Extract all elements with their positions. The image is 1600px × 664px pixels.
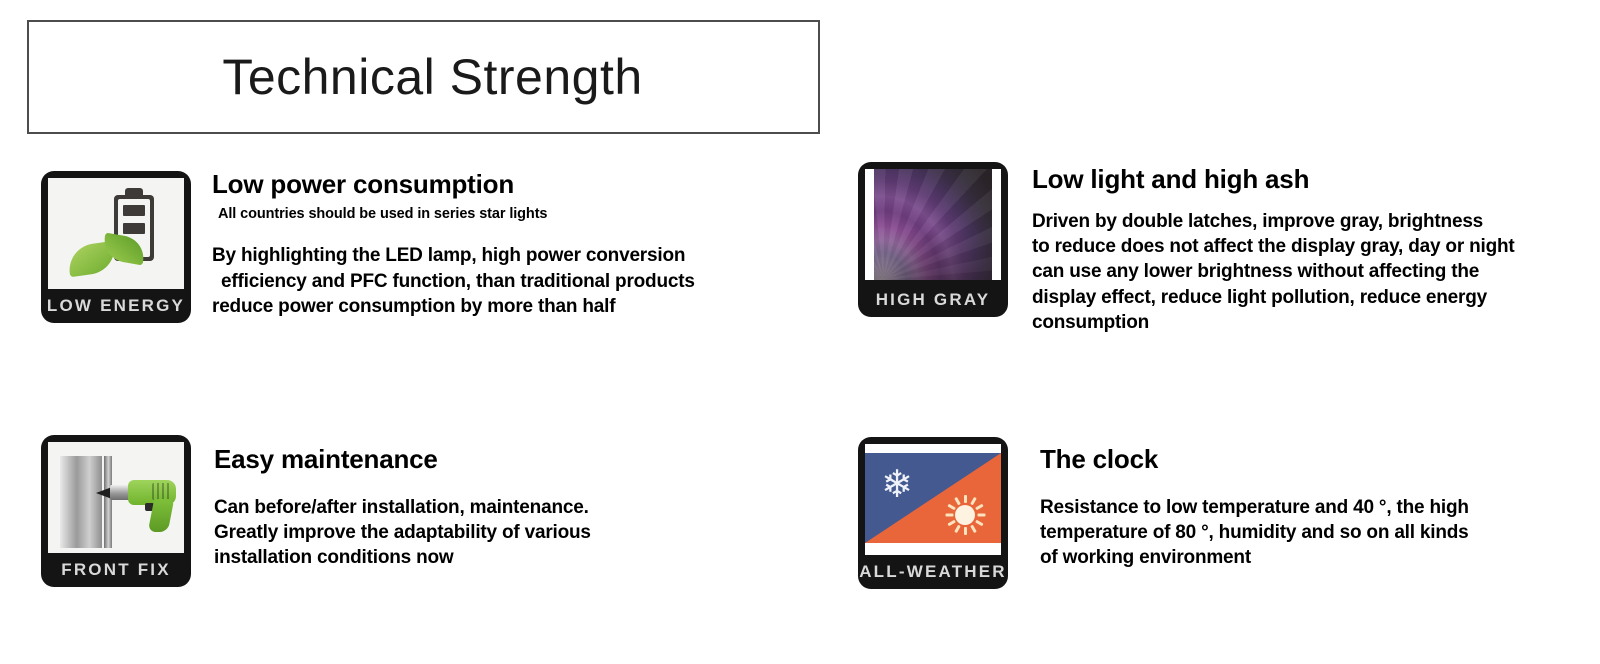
front-fix-icon-art	[48, 442, 184, 553]
feature-body-line: efficiency and PFC function, than tradit…	[212, 269, 832, 294]
icon-caption-high-gray: HIGH GRAY	[858, 283, 1008, 317]
all-weather-icon: ❄ ALL-WEATHER	[858, 437, 1008, 589]
feature-text-the-clock: The clock Resistance to low temperature …	[1040, 445, 1560, 571]
feature-body-line: reduce power consumption by more than ha…	[212, 294, 832, 319]
page-title-box: Technical Strength	[27, 20, 820, 134]
feature-body-line: Greatly improve the adaptability of vari…	[214, 520, 774, 545]
low-energy-icon-art	[48, 178, 184, 289]
feature-body-line: to reduce does not affect the display gr…	[1032, 234, 1577, 259]
feature-body-the-clock: Resistance to low temperature and 40 °, …	[1040, 495, 1560, 571]
page-title: Technical Strength	[29, 48, 818, 106]
panel-edge-icon	[104, 456, 112, 548]
feature-title-low-power-consumption: Low power consumption	[212, 170, 832, 200]
feature-text-low-power-consumption: Low power consumption All countries shou…	[212, 170, 832, 319]
feature-body-line: Can before/after installation, maintenan…	[214, 495, 774, 520]
feature-body-easy-maintenance: Can before/after installation, maintenan…	[214, 495, 774, 571]
feature-body-line: Driven by double latches, improve gray, …	[1032, 209, 1577, 234]
feature-body-line: of working environment	[1040, 545, 1560, 570]
battery-level-bar-1-icon	[123, 205, 145, 216]
feature-text-low-light-high-ash: Low light and high ash Driven by double …	[1032, 165, 1577, 335]
icon-caption-low-energy: LOW ENERGY	[41, 289, 191, 323]
feature-text-easy-maintenance: Easy maintenance Can before/after instal…	[214, 445, 774, 571]
feature-body-line: display effect, reduce light pollution, …	[1032, 285, 1577, 310]
feature-body-low-light-high-ash: Driven by double latches, improve gray, …	[1032, 209, 1577, 335]
icon-caption-all-weather: ALL-WEATHER	[858, 555, 1008, 589]
feature-title-low-light-high-ash: Low light and high ash	[1032, 165, 1577, 195]
gray-gradient-panel-icon	[874, 169, 992, 280]
panel-icon	[60, 456, 102, 548]
feature-body-line: Resistance to low temperature and 40 °, …	[1040, 495, 1560, 520]
high-gray-icon-art	[865, 169, 1001, 280]
feature-body-line: can use any lower brightness without aff…	[1032, 259, 1577, 284]
sun-icon	[945, 495, 985, 535]
icon-caption-front-fix: FRONT FIX	[41, 553, 191, 587]
weather-panel-icon: ❄	[865, 453, 1001, 543]
all-weather-icon-art: ❄	[865, 444, 1001, 555]
low-energy-icon: LOW ENERGY	[41, 171, 191, 323]
feature-subtitle-low-power-consumption: All countries should be used in series s…	[218, 206, 832, 223]
front-fix-icon: FRONT FIX	[41, 435, 191, 587]
feature-title-the-clock: The clock	[1040, 445, 1560, 475]
high-gray-icon: HIGH GRAY	[858, 162, 1008, 317]
feature-body-low-power-consumption: By highlighting the LED lamp, high power…	[212, 243, 832, 319]
feature-body-line: consumption	[1032, 310, 1577, 335]
drill-vents-icon	[152, 483, 170, 500]
feature-title-easy-maintenance: Easy maintenance	[214, 445, 774, 475]
feature-body-line: By highlighting the LED lamp, high power…	[212, 243, 832, 268]
snowflake-icon: ❄	[879, 467, 915, 503]
feature-body-line: installation conditions now	[214, 545, 774, 570]
battery-level-bar-2-icon	[123, 223, 145, 234]
feature-body-line: temperature of 80 °, humidity and so on …	[1040, 520, 1560, 545]
